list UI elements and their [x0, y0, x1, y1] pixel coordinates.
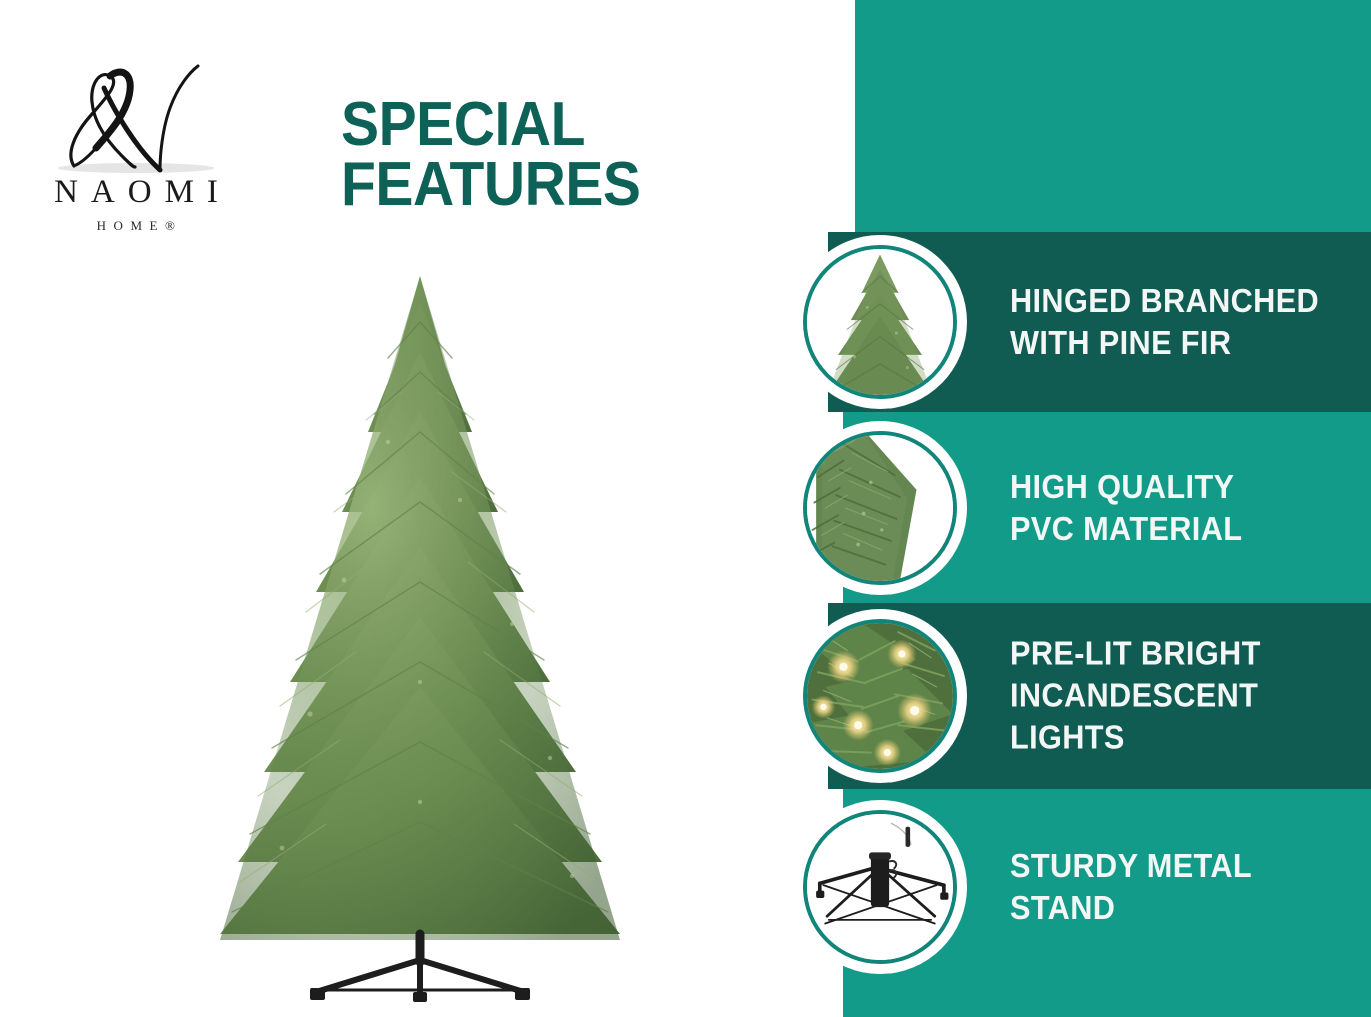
feature-label-1-line-1: HINGED BRANCHED [1010, 280, 1319, 322]
feature-icon-circle-4 [793, 800, 967, 974]
feature-label-4-line-2: STAND [1010, 887, 1252, 929]
feature-label-2-line-2: PVC MATERIAL [1010, 508, 1242, 550]
feature-label-3-line-1: PRE-LIT BRIGHT [1010, 633, 1261, 675]
feature-label-2: HIGH QUALITY PVC MATERIAL [1010, 465, 1242, 549]
feature-label-3-line-3: LIGHTS [1010, 717, 1261, 759]
page-title-line-1: SPECIAL [341, 95, 640, 155]
feature-icon-circle-1 [793, 235, 967, 409]
feature-label-3-line-2: INCANDESCENT [1010, 675, 1261, 717]
page-title: SPECIAL FEATURES [341, 95, 640, 215]
feature-label-4: STURDY METAL STAND [1010, 844, 1252, 928]
brand-name: NAOMI [0, 176, 272, 209]
teal-band-top [855, 0, 1371, 232]
feature-label-4-line-1: STURDY METAL [1010, 844, 1252, 886]
brand-tagline: HOME® [0, 218, 272, 234]
brand-logo: NAOMI HOME® [0, 58, 272, 248]
hero-christmas-tree-image [120, 262, 720, 1002]
feature-row-pvc-material: HIGH QUALITY PVC MATERIAL [780, 412, 1371, 603]
feature-label-3: PRE-LIT BRIGHT INCANDESCENT LIGHTS [1010, 633, 1261, 760]
special-features-infographic: NAOMI HOME® SPECIAL FEATURES [0, 0, 1371, 1017]
feature-row-metal-stand: STURDY METAL STAND [780, 789, 1371, 984]
naomi-script-n-monogram-icon [0, 58, 272, 176]
feature-row-pre-lit-lights: PRE-LIT BRIGHT INCANDESCENT LIGHTS [780, 603, 1371, 789]
feature-label-1: HINGED BRANCHED WITH PINE FIR [1010, 280, 1319, 364]
pine-branch-closeup-icon [803, 431, 957, 585]
feature-label-1-line-2: WITH PINE FIR [1010, 322, 1319, 364]
feature-row-hinged-branched: HINGED BRANCHED WITH PINE FIR [780, 232, 1371, 412]
christmas-tree-photo-icon [803, 245, 957, 399]
lit-branch-closeup-icon [803, 619, 957, 773]
metal-tree-stand-icon [803, 810, 957, 964]
feature-label-2-line-1: HIGH QUALITY [1010, 465, 1242, 507]
header: NAOMI HOME® SPECIAL FEATURES [0, 0, 855, 250]
feature-icon-circle-2 [793, 421, 967, 595]
feature-icon-circle-3 [793, 609, 967, 783]
page-title-line-2: FEATURES [341, 155, 640, 215]
